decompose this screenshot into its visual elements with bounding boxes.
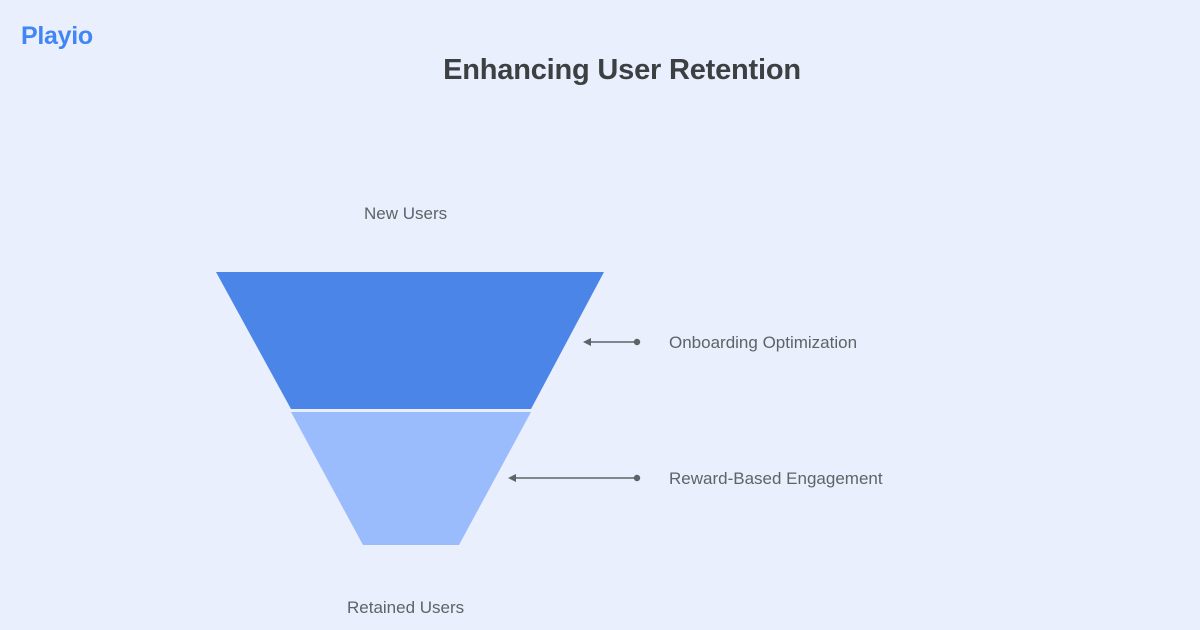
funnel-top-label: New Users [364,205,447,222]
annotation-reward-based-engagement: Reward-Based Engagement [508,466,883,490]
left-arrow-icon [508,471,641,485]
slide-canvas: Playio Enhancing User Retention New User… [0,0,1200,630]
funnel-segment-onboarding[interactable] [216,272,604,409]
annotation-label-onboarding-optimization: Onboarding Optimization [669,334,857,351]
funnel-bottom-label: Retained Users [347,599,464,616]
left-arrow-icon [583,335,641,349]
annotation-label-reward-based-engagement: Reward-Based Engagement [669,470,883,487]
funnel-segment-retention[interactable] [291,412,531,545]
funnel-chart [0,0,1200,630]
annotation-onboarding-optimization: Onboarding Optimization [583,330,857,354]
